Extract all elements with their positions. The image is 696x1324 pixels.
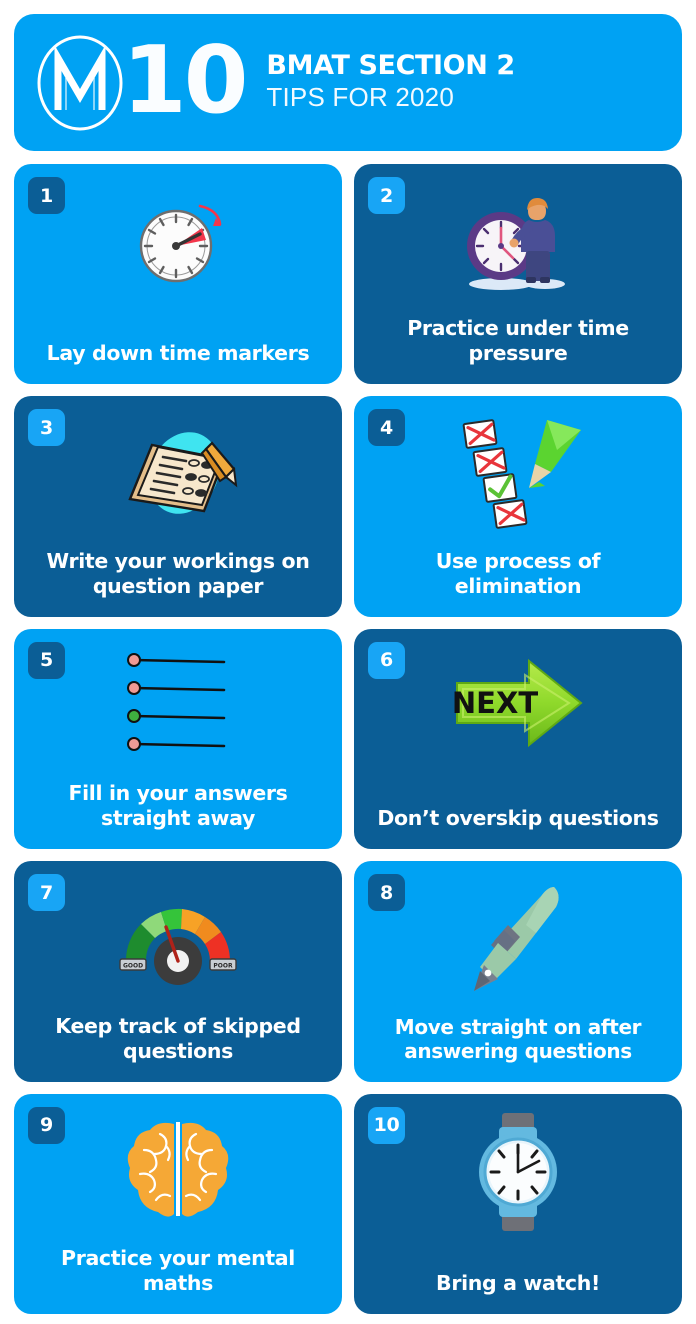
header-subtitle: TIPS FOR 2020 — [266, 82, 514, 113]
tip-number-badge: 6 — [368, 642, 405, 679]
tip-card-3[interactable]: 3 — [14, 396, 342, 616]
tip-caption: Don’t overskip questions — [368, 806, 668, 835]
tip-caption: Write your workings on question paper — [28, 549, 328, 603]
tip-number-badge: 5 — [28, 642, 65, 679]
header-title: BMAT SECTION 2 — [266, 51, 514, 81]
tip-card-5[interactable]: 5 Fill in your answers straight away — [14, 629, 342, 849]
tip-card-6[interactable]: 6 NEXT Don’t overskip questions — [354, 629, 682, 849]
tip-number-badge: 9 — [28, 1107, 65, 1144]
gauge-label-good: GOOD — [123, 963, 143, 970]
header-banner: 10 BMAT SECTION 2 TIPS FOR 2020 — [14, 14, 682, 151]
tip-caption: Fill in your answers straight away — [28, 781, 328, 835]
tip-caption: Lay down time markers — [28, 341, 328, 370]
tip-card-4[interactable]: 4 — [354, 396, 682, 616]
tip-card-9[interactable]: 9 — [14, 1094, 342, 1314]
tips-grid: 1 — [14, 164, 682, 1314]
tip-card-10[interactable]: 10 — [354, 1094, 682, 1314]
tip-card-7[interactable]: 7 GOOD POOR — [14, 861, 342, 1081]
tip-caption: Practice under time pressure — [368, 316, 668, 370]
header-text-group: BMAT SECTION 2 TIPS FOR 2020 — [266, 51, 514, 113]
tip-card-8[interactable]: 8 Move straight on after answering quest… — [354, 861, 682, 1081]
tip-caption: Practice your mental maths — [28, 1246, 328, 1300]
tip-caption: Use process of elimination — [368, 549, 668, 603]
circle-m-logo-icon — [36, 34, 124, 132]
tip-caption: Bring a watch! — [368, 1271, 668, 1300]
tip-number-badge: 8 — [368, 874, 405, 911]
tip-number-badge: 2 — [368, 177, 405, 214]
infographic-page: 10 BMAT SECTION 2 TIPS FOR 2020 1 — [0, 0, 696, 1324]
tip-caption: Move straight on after answering questio… — [368, 1015, 668, 1068]
tip-caption: Keep track of skipped questions — [28, 1014, 328, 1068]
tip-card-2[interactable]: 2 — [354, 164, 682, 384]
next-arrow-label: NEXT — [452, 686, 538, 720]
tip-number-badge: 4 — [368, 409, 405, 446]
tip-number-badge: 3 — [28, 409, 65, 446]
header-count: 10 — [122, 38, 245, 124]
tip-number-badge: 10 — [368, 1107, 405, 1144]
tip-number-badge: 1 — [28, 177, 65, 214]
tip-card-1[interactable]: 1 — [14, 164, 342, 384]
gauge-label-poor: POOR — [213, 963, 233, 970]
tip-number-badge: 7 — [28, 874, 65, 911]
